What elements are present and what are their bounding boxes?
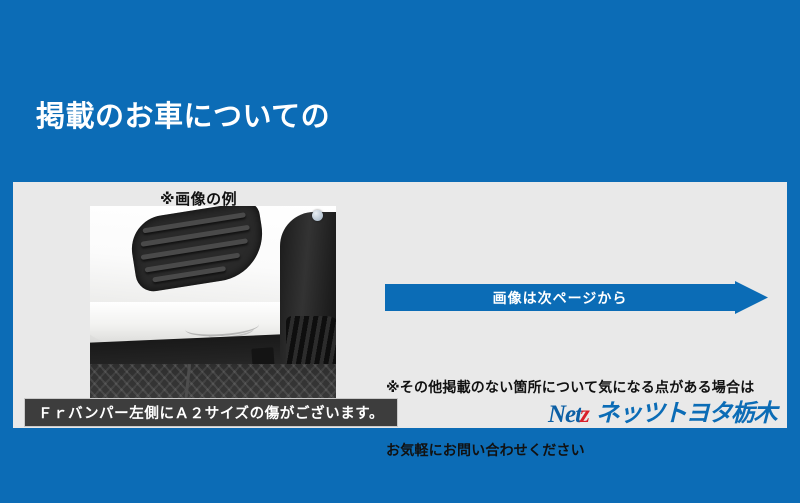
damage-photo xyxy=(90,206,336,398)
headline-line-1: 掲載のお車についての xyxy=(36,98,776,136)
dealer-name: ネッツトヨタ栃木 xyxy=(596,402,776,426)
photo-wheel-cap xyxy=(312,210,323,221)
next-page-arrow-label: 画像は次ページから xyxy=(385,281,735,314)
photo-caption-text: Ｆｒバンパー左側にＡ２サイズの傷がございます。 xyxy=(38,402,384,423)
slide-root: 掲載のお車についての 目立つ傷やへこみ等は 次ページの画像をご覧ください ※画像… xyxy=(0,0,800,450)
netz-wordmark: Netz xyxy=(548,402,589,427)
photo-checker-floor xyxy=(90,364,336,398)
netz-wordmark-accent: z xyxy=(580,402,589,427)
netz-wordmark-primary: Net xyxy=(548,402,581,427)
photo-caption-bar: Ｆｒバンパー左側にＡ２サイズの傷がございます。 xyxy=(24,398,398,427)
netz-toyota-logo: Netz ネッツトヨタ栃木 xyxy=(548,398,776,430)
note-line-1: ※その他掲載のない箇所について気になる点がある場合は xyxy=(386,377,778,398)
note-line-2: お気軽にお問い合わせください xyxy=(386,440,778,461)
